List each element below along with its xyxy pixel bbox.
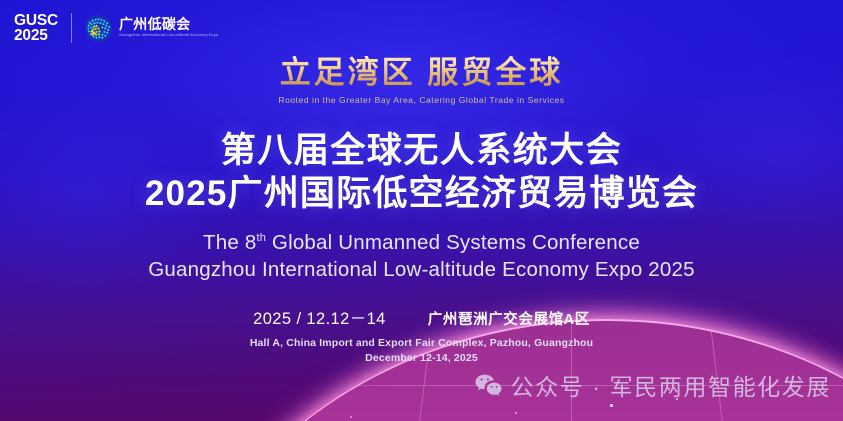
event-title-en-suffix: Global Unmanned Systems Conference — [266, 231, 640, 254]
brand-logo-bar[interactable]: GUSC 2025 — [14, 6, 218, 50]
tagline-en: Rooted in the Greater Bay Area, Catering… — [0, 95, 843, 105]
event-title-cn-line2: 2025广州国际低空经济贸易博览会 — [0, 173, 843, 214]
event-date-en: December 12-14, 2025 — [0, 351, 843, 366]
event-title-cn-line1: 第八届全球无人系统大会 — [0, 130, 843, 171]
gusc-logo-line2: 2025 — [14, 28, 58, 43]
event-title-en-line2: Guangzhou International Low-altitude Eco… — [0, 256, 843, 284]
watermark-label: 公众号 · 军民两用智能化发展 — [511, 368, 831, 402]
event-title-en-line1: The 8th Global Unmanned Systems Conferen… — [0, 229, 843, 257]
logo-divider — [71, 13, 72, 43]
gusc-logo-line1: GUSC — [14, 13, 58, 28]
event-date-cn: 2025 / 12.12－14 — [253, 305, 386, 329]
event-banner: GUSC 2025 — [0, 0, 843, 421]
event-venue-en: Hall A, China Import and Export Fair Com… — [0, 336, 843, 351]
expo-logo-cn: 广州低碳会 — [119, 17, 218, 32]
dotted-globe-icon — [83, 13, 114, 44]
star-dot — [515, 412, 517, 414]
banner-content: 立足湾区 服贸全球 Rooted in the Greater Bay Area… — [0, 0, 843, 366]
wechat-watermark: 公众号 · 军民两用智能化发展 — [475, 368, 831, 402]
star-dot — [350, 416, 352, 418]
tagline-cn: 立足湾区 服贸全球 — [0, 56, 843, 90]
expo-logo-text: 广州低碳会 Guangzhou International Low-altitu… — [119, 17, 218, 38]
wechat-icon — [475, 374, 502, 397]
ordinal-suffix: th — [256, 232, 266, 244]
event-meta-row: 2025 / 12.12－14 广州琶洲广交会展馆A区 — [0, 305, 843, 329]
star-dot — [610, 404, 613, 407]
expo-logo-en: Guangzhou International Low-altitude Eco… — [119, 33, 218, 39]
event-title-en-prefix: The 8 — [203, 231, 256, 254]
event-venue-cn: 广州琶洲广交会展馆A区 — [428, 308, 590, 329]
gusc-logo: GUSC 2025 — [14, 13, 58, 43]
